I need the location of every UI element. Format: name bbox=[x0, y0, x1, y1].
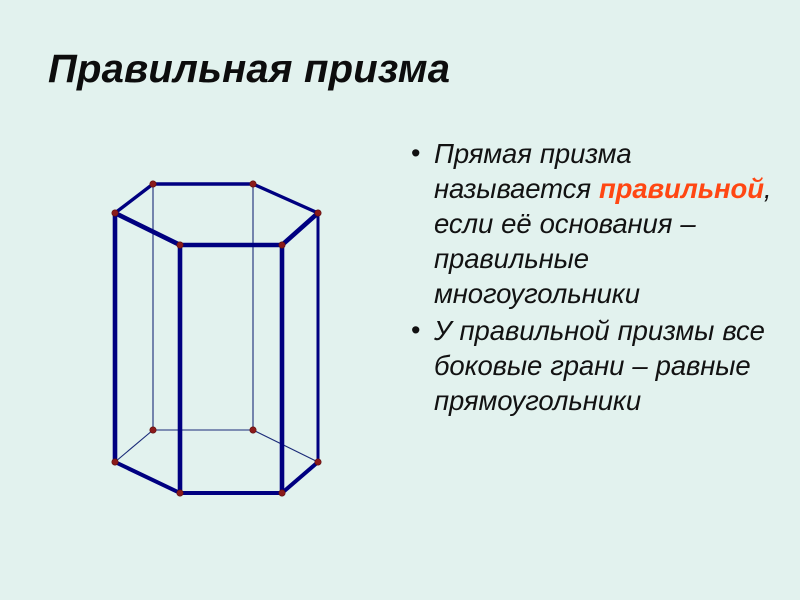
vertex-dot-bottom-back-left bbox=[150, 427, 156, 433]
vertex-dot-bottom-right bbox=[315, 459, 321, 465]
top-face-front-edges bbox=[115, 213, 318, 245]
vertex-dot-top-back-left bbox=[150, 181, 156, 187]
vertex-dot-top-front-right bbox=[279, 242, 285, 248]
top-edge-right-front bbox=[282, 213, 318, 245]
hidden-edge-bottom-back-right bbox=[253, 430, 318, 462]
top-edge-back-left bbox=[115, 184, 153, 213]
hidden-edge-bottom-back-left bbox=[115, 430, 153, 462]
page-title: Правильная призма bbox=[48, 48, 748, 90]
list-item: • Прямая призма называется правильной, е… bbox=[404, 136, 796, 311]
vertex-dot-bottom-left bbox=[112, 459, 118, 465]
hexagonal-prism-figure bbox=[60, 140, 380, 540]
slide-canvas: Правильная призма bbox=[0, 0, 800, 600]
vertex-dot-top-right bbox=[315, 210, 321, 216]
bullet-text-property: У правильной призмы все боковые грани – … bbox=[434, 313, 796, 418]
vertex-dot-bottom-front-left bbox=[177, 490, 183, 496]
bottom-edge-left-front bbox=[115, 462, 180, 493]
bullet-marker: • bbox=[404, 136, 434, 171]
top-edge-left-front bbox=[115, 213, 180, 245]
vertex-dot-top-left bbox=[112, 210, 118, 216]
bottom-edge-right-front bbox=[282, 462, 318, 493]
lateral-edges-group bbox=[115, 213, 318, 493]
bullet-segment-text: У правильной призмы все боковые грани – … bbox=[434, 315, 765, 416]
list-item: • У правильной призмы все боковые грани … bbox=[404, 313, 796, 418]
hexagonal-prism-svg bbox=[60, 140, 380, 540]
vertex-dot-bottom-back-right bbox=[250, 427, 256, 433]
bullet-marker: • bbox=[404, 313, 434, 348]
top-edge-back-right bbox=[253, 184, 318, 213]
bullet-list: • Прямая призма называется правильной, е… bbox=[404, 136, 796, 420]
vertex-dot-top-back-right bbox=[250, 181, 256, 187]
vertex-dot-top-front-left bbox=[177, 242, 183, 248]
top-face-edges bbox=[115, 184, 318, 213]
vertex-dot-bottom-front-right bbox=[279, 490, 285, 496]
bullet-text-definition: Прямая призма называется правильной, есл… bbox=[434, 136, 796, 311]
bottom-face-visible-edges bbox=[115, 462, 318, 493]
highlighted-term: правильной bbox=[599, 173, 764, 204]
